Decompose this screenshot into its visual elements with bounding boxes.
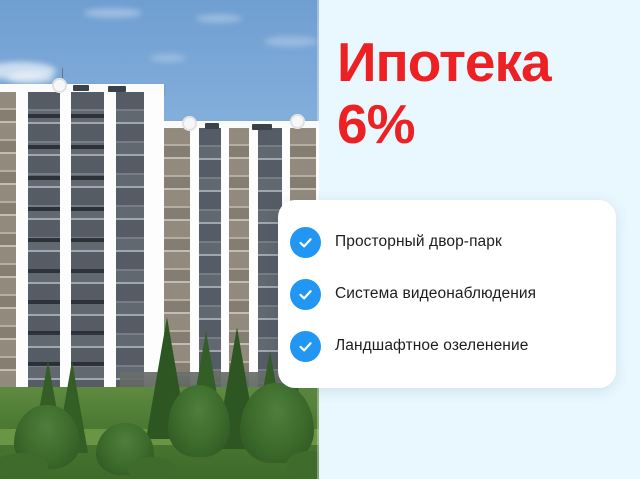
rooftop-unit <box>205 123 219 129</box>
cloud <box>8 72 54 84</box>
headline-title: Ипотека <box>337 31 551 93</box>
rooftop-unit <box>252 124 272 130</box>
cloud <box>84 8 142 18</box>
rooftop-vent-icon <box>182 116 197 131</box>
rooftop-unit <box>108 86 126 92</box>
rooftop-unit <box>73 85 89 91</box>
feature-label: Просторный двор-парк <box>335 233 502 251</box>
window-column <box>0 92 16 422</box>
feature-label: Ландшафтное озеленение <box>335 337 528 355</box>
rooftop-mast <box>62 68 63 78</box>
check-circle-icon <box>290 227 321 258</box>
list-item: Система видеонаблюдения <box>290 279 600 310</box>
feature-list: Просторный двор-парк Система видеонаблюд… <box>278 200 616 388</box>
check-circle-icon <box>290 331 321 362</box>
shrub <box>0 453 48 479</box>
facade-pier <box>16 92 28 422</box>
headline: Ипотека 6% <box>337 34 627 154</box>
shrub <box>286 451 319 479</box>
cloud <box>264 36 318 47</box>
shrub <box>128 457 176 479</box>
feature-label: Система видеонаблюдения <box>335 285 536 303</box>
cloud <box>150 54 186 62</box>
rooftop-vent-icon <box>52 78 67 93</box>
residential-complex-photo <box>0 0 319 479</box>
promo-banner: Ипотека 6% Просторный двор-парк <box>0 0 640 479</box>
check-circle-icon <box>290 279 321 310</box>
cloud <box>196 14 242 23</box>
list-item: Ландшафтное озеленение <box>290 331 600 362</box>
list-item: Просторный двор-парк <box>290 227 600 258</box>
mortgage-rate: 6% <box>337 96 627 154</box>
feature-card: Просторный двор-парк Система видеонаблюд… <box>278 200 616 388</box>
facade-pier <box>104 92 116 422</box>
rooftop-vent-icon <box>290 114 305 129</box>
